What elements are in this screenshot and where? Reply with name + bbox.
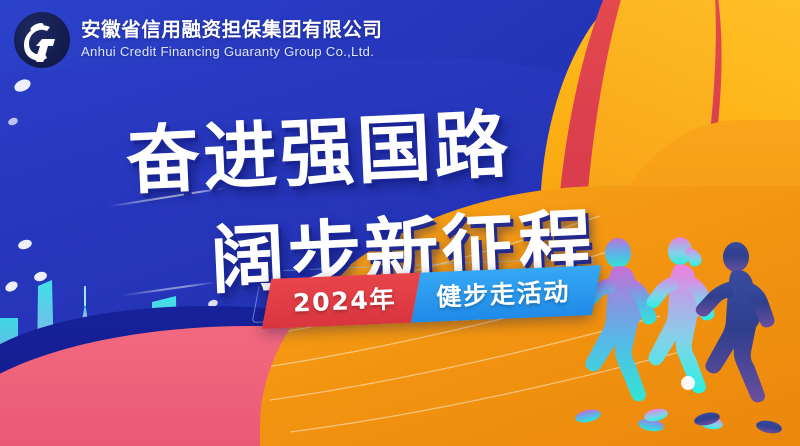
ribbon-event-panel: 健步走活动 [411,265,601,322]
ribbon-event-label: 健步走活动 [436,272,571,313]
company-name-block: 安徽省信用融资担保集团有限公司 Anhui Credit Financing G… [81,20,383,59]
brand-header: 安徽省信用融资担保集团有限公司 Anhui Credit Financing G… [14,12,383,68]
runner-right [693,242,783,435]
ribbon-year-label: 2024年 [292,280,397,320]
ribbon-year-panel: 2024年 [262,273,421,329]
company-logo-icon [14,12,70,68]
promotional-banner: 安徽省信用融资担保集团有限公司 Anhui Credit Financing G… [0,0,800,446]
highlight-dot [681,376,695,390]
company-name-en: Anhui Credit Financing Guaranty Group Co… [81,45,383,59]
company-name-cn: 安徽省信用融资担保集团有限公司 [81,20,383,41]
